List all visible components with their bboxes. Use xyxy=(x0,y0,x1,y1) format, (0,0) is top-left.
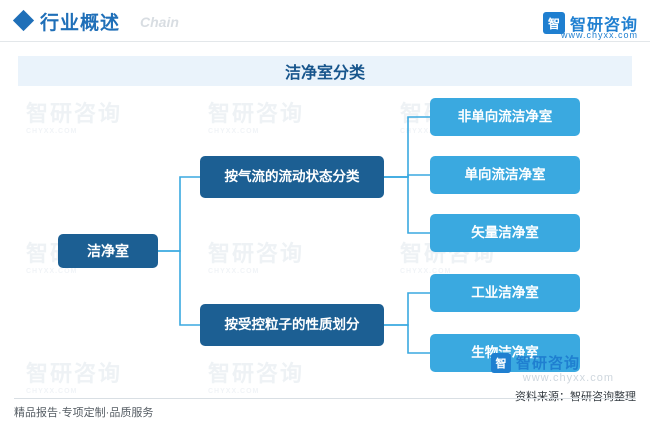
brand-url: www.chyxx.com xyxy=(561,30,638,40)
brand-mark-icon: 智 xyxy=(491,353,511,373)
chart-title: 洁净室分类 xyxy=(18,56,632,86)
diamond-icon xyxy=(13,10,34,31)
footer-divider xyxy=(14,398,636,399)
diagram-canvas: 洁净室 按气流的流动状态分类 按受控粒子的性质划分 非单向流洁净室 单向流洁净室… xyxy=(0,86,650,386)
node-branch-2[interactable]: 按受控粒子的性质划分 xyxy=(200,304,384,346)
node-root[interactable]: 洁净室 xyxy=(58,234,158,268)
node-leaf-1[interactable]: 非单向流洁净室 xyxy=(430,98,580,136)
page-subtitle: Chain xyxy=(140,14,179,30)
node-leaf-3[interactable]: 矢量洁净室 xyxy=(430,214,580,252)
node-leaf-4[interactable]: 工业洁净室 xyxy=(430,274,580,312)
page-header: 行业概述 Chain 智 智研咨询 www.chyxx.com xyxy=(0,0,650,42)
header-divider xyxy=(0,41,650,42)
node-leaf-2[interactable]: 单向流洁净室 xyxy=(430,156,580,194)
footer-url-watermark: www.chyxx.com xyxy=(523,372,614,384)
footer-brand-logo: 智 智研咨询 xyxy=(491,352,580,373)
page-title: 行业概述 xyxy=(40,8,120,35)
chart-title-band: 洁净室分类 xyxy=(18,56,632,86)
source-note: 资料来源：智研咨询整理 xyxy=(515,388,636,404)
node-branch-1[interactable]: 按气流的流动状态分类 xyxy=(200,156,384,198)
footer-tagline: 精品报告·专项定制·品质服务 xyxy=(14,404,153,420)
brand-name: 智研咨询 xyxy=(516,352,580,373)
